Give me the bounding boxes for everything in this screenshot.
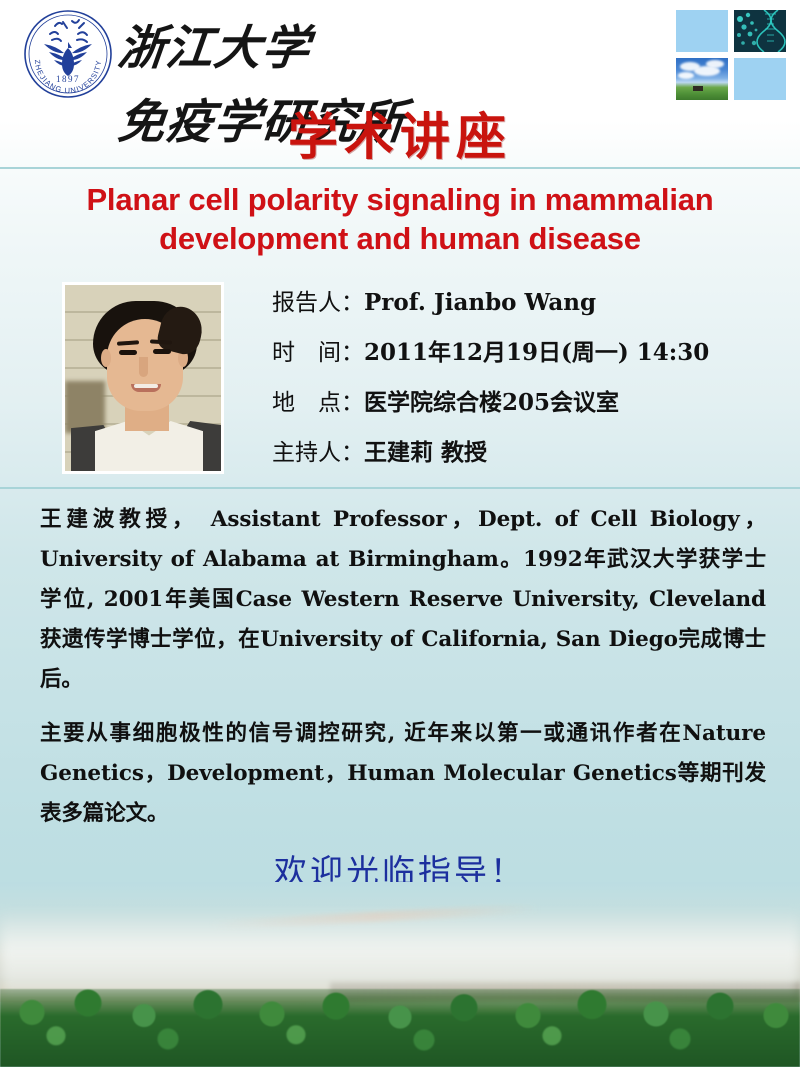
chinese-lecture-title: 学术讲座 — [0, 108, 800, 166]
speaker-portrait-photo — [62, 282, 224, 474]
poster-header: 1897 ZHEJIANG UNIVERSITY 浙江大学免疫学研究所 — [0, 0, 800, 108]
bio-paragraph-1: 王建波教授， Assistant Professor，Dept. of Cell… — [40, 500, 766, 700]
header-decor-tiles — [676, 10, 788, 100]
info-value-speaker: Prof. Jianbo Wang — [364, 289, 596, 316]
divider-top — [0, 167, 800, 169]
zhejiang-university-logo-icon: 1897 ZHEJIANG UNIVERSITY — [22, 8, 114, 100]
tile-solid-blue-1 — [676, 10, 728, 52]
bottom-landscape-image — [0, 882, 800, 1067]
info-value-venue: 医学院综合楼205会议室 — [364, 389, 619, 416]
info-row-host: 主持人：王建莉 教授 — [272, 428, 792, 478]
info-rows: 报告人：Prof. Jianbo Wang 时 间：2011年12月19日(周一… — [272, 278, 792, 478]
info-label-venue: 地 点： — [272, 390, 364, 416]
info-row-venue: 地 点：医学院综合楼205会议室 — [272, 378, 792, 428]
divider-middle — [0, 487, 800, 489]
institute-university-name: 浙江大学 — [114, 12, 314, 86]
info-label-time: 时 间： — [272, 340, 364, 366]
english-lecture-title: Planar cell polarity signaling in mammal… — [16, 180, 784, 258]
english-title-line-1: Planar cell polarity signaling in mammal… — [16, 180, 784, 219]
tile-dna-helix — [734, 10, 786, 52]
institute-name: 浙江大学免疫学研究所 — [118, 12, 588, 90]
speaker-biography: 王建波教授， Assistant Professor，Dept. of Cell… — [40, 500, 766, 848]
info-value-host: 王建莉 教授 — [364, 439, 487, 466]
tile-sky-field — [676, 58, 728, 100]
info-value-time: 2011年12月19日(周一) 14:30 — [364, 339, 709, 366]
info-label-host: 主持人： — [272, 440, 364, 466]
bio-paragraph-2: 主要从事细胞极性的信号调控研究, 近年来以第一或通讯作者在Nature Gene… — [40, 714, 766, 834]
lecture-info-block: 报告人：Prof. Jianbo Wang 时 间：2011年12月19日(周一… — [0, 272, 800, 484]
info-row-speaker: 报告人：Prof. Jianbo Wang — [272, 278, 792, 328]
logo-year-text: 1897 — [56, 74, 80, 84]
info-label-speaker: 报告人： — [272, 290, 364, 316]
lecture-poster: 1897 ZHEJIANG UNIVERSITY 浙江大学免疫学研究所 — [0, 0, 800, 1067]
english-title-line-2: development and human disease — [16, 219, 784, 258]
tile-solid-blue-2 — [734, 58, 786, 100]
info-row-time: 时 间：2011年12月19日(周一) 14:30 — [272, 328, 792, 378]
